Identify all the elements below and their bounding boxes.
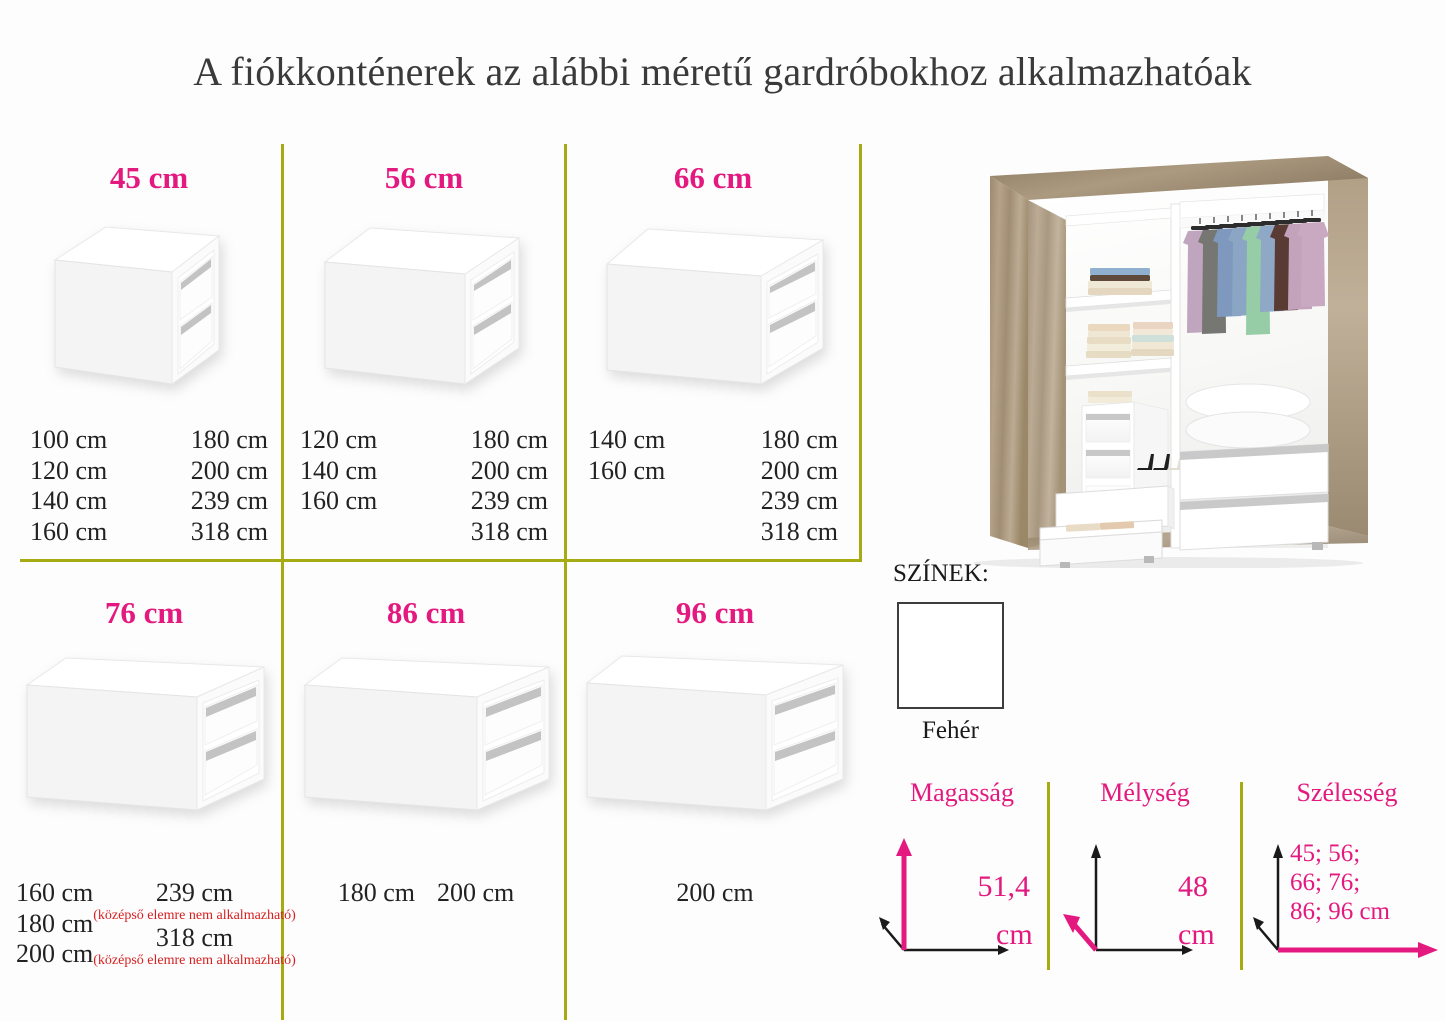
- dimension-list: 120 cm 140 cm 160 cm 180 cm 200 cm 239 c…: [290, 425, 558, 548]
- size-cell-96: 96 cm 200 cm: [576, 595, 854, 1015]
- grid-separator-vertical-3: [859, 144, 862, 562]
- dimension-value: 160 cm: [30, 517, 107, 548]
- dimension-value: 160 cm: [300, 486, 377, 517]
- dimension-column-left: 120 cm 140 cm 160 cm: [300, 425, 377, 548]
- dimension-value: 120 cm: [30, 456, 107, 487]
- drawer-unit-illustration: [302, 655, 552, 815]
- dimension-column-right: 200 cm: [437, 878, 514, 909]
- colors-section-label: SZÍNEK:: [893, 560, 989, 588]
- dimension-value: 140 cm: [30, 486, 107, 517]
- dimension-value: 140 cm: [300, 456, 377, 487]
- dimension-note: (középső elemre nem alkalmazható): [93, 954, 296, 969]
- spec-width-line: 86; 96 cm: [1290, 898, 1390, 927]
- spec-width-line: 45; 56;: [1290, 840, 1390, 869]
- dimension-column-left: 160 cm 180 cm 200 cm: [16, 878, 93, 970]
- dimension-value: 200 cm: [191, 456, 268, 487]
- drawer-unit-illustration: [584, 653, 846, 815]
- size-cell-title: 96 cm: [576, 595, 854, 631]
- dimension-list: 100 cm 120 cm 140 cm 160 cm 180 cm 200 c…: [20, 425, 278, 548]
- dimension-column-right: 180 cm 200 cm 239 cm 318 cm: [191, 425, 268, 548]
- size-cell-66: 66 cm 140 cm 160 cm 180 cm 200 cm 23: [574, 160, 852, 558]
- grid-separator-horizontal: [20, 559, 862, 562]
- dimension-value: 239 cm: [191, 486, 268, 517]
- grid-separator-vertical-2: [564, 144, 567, 562]
- dimension-value: 200 cm: [676, 878, 753, 909]
- size-cell-title: 76 cm: [10, 595, 278, 631]
- dimension-value: 318 cm: [191, 517, 268, 548]
- dimension-value: 200 cm: [761, 456, 838, 487]
- dimension-value: 200 cm: [471, 456, 548, 487]
- size-cell-title: 56 cm: [290, 160, 558, 196]
- wardrobe-interior-photo: [928, 138, 1398, 568]
- dimension-value: 140 cm: [588, 425, 665, 456]
- spec-title: Mélység: [1060, 778, 1230, 808]
- dimension-value: 318 cm: [93, 923, 296, 954]
- dimension-column-left: 100 cm 120 cm 140 cm 160 cm: [30, 425, 107, 548]
- spec-width-values: 45; 56; 66; 76; 86; 96 cm: [1290, 840, 1390, 926]
- spec-panel-depth: Mélység 48 cm: [1060, 778, 1230, 968]
- dimension-column-right: 180 cm 200 cm 239 cm 318 cm: [471, 425, 548, 548]
- size-cell-56: 56 cm 120 cm 140 cm 160 cm 180 cm 20: [290, 160, 558, 558]
- dimension-list: 180 cm 200 cm: [292, 878, 560, 909]
- grid-separator-vertical-1: [281, 144, 284, 562]
- dimension-list: 140 cm 160 cm 180 cm 200 cm 239 cm 318 c…: [574, 425, 852, 548]
- spec-value: 51,4: [878, 872, 1030, 903]
- color-swatch-label: Fehér: [897, 717, 1004, 745]
- dimension-value: 239 cm: [761, 486, 838, 517]
- drawer-unit-illustration: [52, 224, 222, 389]
- dimension-column-right: 239 cm (középső elemre nem alkalmazható)…: [93, 878, 296, 970]
- dimension-value: 180 cm: [191, 425, 268, 456]
- dimension-list: 160 cm 180 cm 200 cm 239 cm (középső ele…: [10, 878, 278, 970]
- dimension-value: 180 cm: [471, 425, 548, 456]
- spec-unit: cm: [996, 918, 1033, 952]
- spec-title: Szélesség: [1252, 778, 1442, 808]
- size-cell-76: 76 cm 160 cm 180 cm 200 cm 239 cm (k: [10, 595, 278, 1015]
- dimension-value: 120 cm: [300, 425, 377, 456]
- infographic-page: A fiókkonténerek az alábbi méretű gardró…: [0, 0, 1445, 1022]
- dimension-column-left: 140 cm 160 cm: [588, 425, 665, 548]
- dimension-note: (középső elemre nem alkalmazható): [93, 909, 296, 924]
- size-cell-45: 45 cm 100 cm 120 cm: [20, 160, 278, 558]
- size-cell-title: 86 cm: [292, 595, 560, 631]
- dimension-list: 200 cm: [576, 878, 854, 909]
- spec-title: Magasság: [878, 778, 1046, 808]
- dimension-column-right: 180 cm 200 cm 239 cm 318 cm: [761, 425, 838, 548]
- spec-panel-width: Szélesség 45; 56; 66; 76; 86; 96 cm: [1252, 778, 1442, 968]
- drawer-unit-illustration: [24, 655, 267, 815]
- spec-width-line: 66; 76;: [1290, 869, 1390, 898]
- dimension-value: 239 cm: [93, 878, 296, 909]
- spec-unit: cm: [1178, 918, 1215, 952]
- color-swatch-white: [897, 602, 1004, 709]
- drawer-unit-illustration: [322, 224, 522, 389]
- page-title: A fiókkonténerek az alábbi méretű gardró…: [0, 48, 1445, 95]
- grid-separator-vertical-5: [564, 562, 567, 1020]
- dimension-value: 200 cm: [437, 878, 514, 909]
- size-cell-title: 66 cm: [574, 160, 852, 196]
- dimension-value: 318 cm: [761, 517, 838, 548]
- dimension-value: 180 cm: [16, 909, 93, 940]
- spec-panel-height: Magasság 51,4 cm: [878, 778, 1046, 968]
- dimension-value: 200 cm: [16, 939, 93, 970]
- size-cell-86: 86 cm 180 cm 200 cm: [292, 595, 560, 1015]
- drawer-unit-illustration: [604, 224, 826, 389]
- spec-separator-2: [1240, 782, 1243, 970]
- dimension-value: 180 cm: [761, 425, 838, 456]
- dimension-column-left: 180 cm: [338, 878, 415, 909]
- dimension-value: 160 cm: [16, 878, 93, 909]
- dimension-value: 239 cm: [471, 486, 548, 517]
- spec-separator-1: [1047, 782, 1050, 970]
- dimension-column-left: 200 cm: [676, 878, 753, 909]
- size-cell-title: 45 cm: [20, 160, 278, 196]
- spec-value: 48: [1060, 872, 1208, 903]
- dimension-value: 100 cm: [30, 425, 107, 456]
- dimension-value: 180 cm: [338, 878, 415, 909]
- dimension-value: 160 cm: [588, 456, 665, 487]
- dimension-value: 318 cm: [471, 517, 548, 548]
